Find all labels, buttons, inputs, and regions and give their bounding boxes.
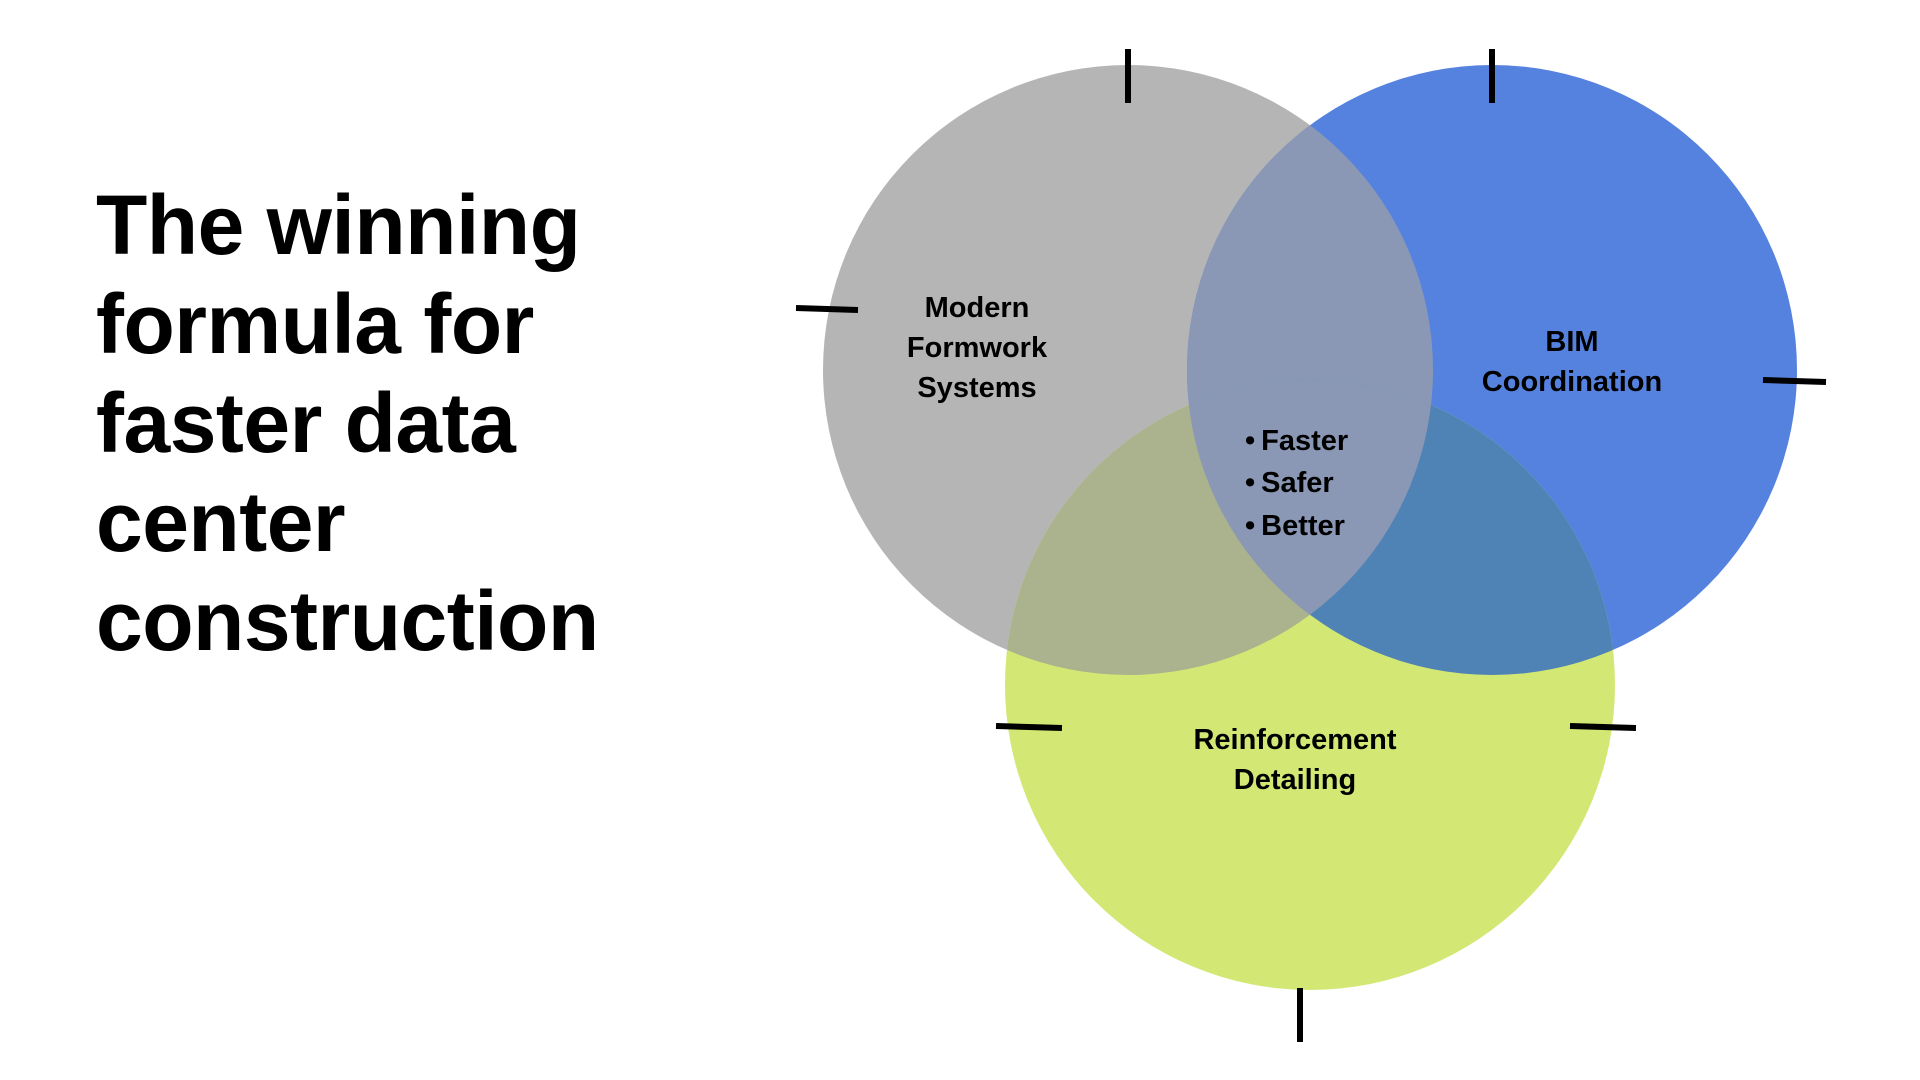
tick-blue-right (1763, 380, 1826, 382)
venn-svg (780, 0, 1920, 1080)
headline-line-2: formula for (96, 275, 776, 374)
slide-canvas: The winning formula for faster data cent… (0, 0, 1920, 1080)
tick-green-right (1570, 726, 1636, 728)
headline-line-3: faster data (96, 374, 776, 473)
venn-diagram (780, 0, 1920, 1080)
tick-green-left (996, 726, 1062, 728)
headline-line-4: center (96, 473, 776, 572)
headline-line-1: The winning (96, 176, 776, 275)
page-title: The winning formula for faster data cent… (96, 176, 776, 672)
headline-line-5: construction (96, 572, 776, 671)
tick-gray-left (796, 308, 858, 310)
